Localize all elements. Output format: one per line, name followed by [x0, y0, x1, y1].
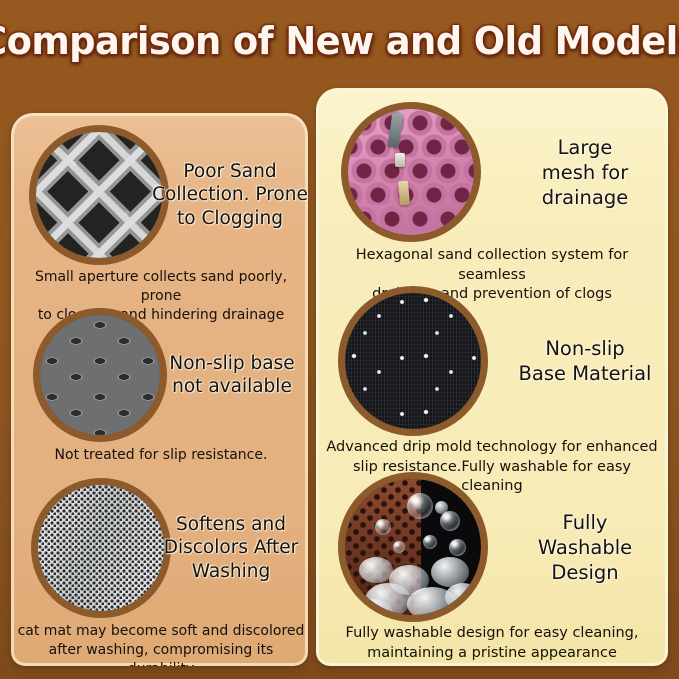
bubble [407, 493, 433, 519]
old-row-1: Poor Sand Collection. Prone to Clogging … [11, 125, 308, 303]
old-heading-3-wrap: Softens and Discolors After Washing [153, 478, 308, 618]
old-heading-2: Non-slip base not available [169, 352, 294, 399]
bubble [440, 511, 460, 531]
fabric-texture [345, 293, 481, 429]
old-heading-2-wrap: Non-slip base not available [156, 308, 308, 442]
old-heading-1-wrap: Poor Sand Collection. Prone to Clogging [151, 125, 308, 265]
old-caption-3: cat mat may become soft and discolored a… [15, 622, 307, 666]
new-row-1: Large mesh for drainage Hexagonal sand c… [316, 102, 668, 282]
new-row-3: Fully Washable Design Fully washable des… [316, 472, 668, 658]
photo-inner [348, 109, 474, 235]
honeycomb-texture [348, 109, 474, 235]
new-heading-1-wrap: Large mesh for drainage [502, 102, 668, 242]
foam-blob [445, 583, 481, 611]
grey-dimpled-base-photo [33, 308, 167, 442]
photo-inner [345, 479, 481, 615]
new-photo-2-wrap [338, 286, 488, 436]
new-model-panel: Large mesh for drainage Hexagonal sand c… [316, 88, 668, 666]
old-heading-3: Softens and Discolors After Washing [164, 513, 299, 584]
dimple-texture [40, 315, 160, 435]
bubble [449, 539, 466, 556]
new-row-2: Non-slip Base Material Advanced drip mol… [316, 286, 668, 472]
new-heading-3: Fully Washable Design [502, 510, 668, 585]
black-nonslip-fabric-base-photo [338, 286, 488, 436]
new-caption-3: Fully washable design for easy cleaning,… [322, 624, 662, 663]
coarse-square-grid-mat-photo [29, 125, 169, 265]
bubble [423, 535, 437, 549]
photo-inner [345, 293, 481, 429]
new-photo-1-wrap [341, 102, 481, 242]
old-caption-2: Not treated for slip resistance. [15, 446, 307, 465]
mat-washing-with-bubbles-photo [338, 472, 488, 622]
old-caption-2-wrap: Not treated for slip resistance. [15, 446, 307, 465]
poster-title: Comparison of New and Old Models [0, 21, 679, 61]
old-photo-3-wrap [31, 478, 171, 618]
new-photo-3-wrap [338, 472, 488, 622]
grid-texture [36, 132, 162, 258]
old-row-3: Softens and Discolors After Washing cat … [11, 478, 308, 658]
new-heading-1: Large mesh for drainage [502, 135, 668, 210]
old-model-panel: Poor Sand Collection. Prone to Clogging … [11, 113, 308, 666]
old-row-2: Non-slip base not available Not treated … [11, 308, 308, 473]
photo-inner [40, 315, 160, 435]
old-photo-1-wrap [29, 125, 169, 265]
photo-inner [36, 132, 162, 258]
new-heading-2-wrap: Non-slip Base Material [502, 286, 668, 436]
new-caption-3-wrap: Fully washable design for easy cleaning,… [322, 624, 662, 663]
pink-hexagonal-honeycomb-mat-photo [341, 102, 481, 242]
new-heading-3-wrap: Fully Washable Design [502, 472, 668, 622]
old-heading-1: Poor Sand Collection. Prone to Clogging [152, 160, 308, 231]
bubble [375, 519, 391, 535]
bubble [393, 541, 405, 553]
wash-texture [345, 479, 481, 615]
foam-blob [435, 501, 448, 514]
new-heading-2: Non-slip Base Material [519, 336, 652, 386]
fine-white-mesh-photo [31, 478, 171, 618]
comparison-infographic: Comparison of New and Old Models Poor Sa… [0, 0, 679, 679]
foam-blob [359, 557, 393, 583]
old-caption-3-wrap: cat mat may become soft and discolored a… [15, 622, 307, 666]
old-photo-2-wrap [33, 308, 167, 442]
debris-tan [398, 181, 410, 206]
debris-white [395, 153, 405, 167]
poster-title-bar: Comparison of New and Old Models [0, 0, 679, 82]
photo-inner [38, 485, 164, 611]
mesh-texture [38, 485, 164, 611]
